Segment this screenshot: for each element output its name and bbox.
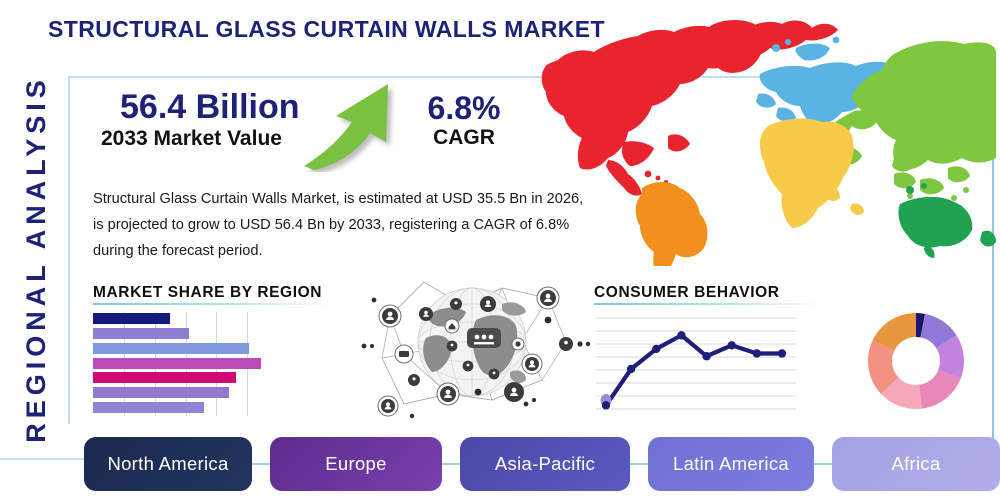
line-data-point xyxy=(627,365,635,373)
market-share-bar-chart xyxy=(93,312,278,416)
section-rule-market-share xyxy=(93,303,333,305)
up-trend-arrow-icon xyxy=(300,80,410,172)
line-data-point xyxy=(728,341,736,349)
bar-chart-bar xyxy=(93,313,170,324)
line-data-point xyxy=(677,331,685,339)
bar-chart-bar xyxy=(93,387,229,398)
bar-chart-bar xyxy=(93,328,189,339)
vertical-section-label: REGIONAL ANALYSIS xyxy=(13,49,59,469)
consumer-behavior-line-chart xyxy=(596,310,796,417)
region-chip-asia-pacific[interactable]: Asia-Pacific xyxy=(460,437,630,491)
chip-connector xyxy=(814,463,832,465)
bar-chart-bar xyxy=(93,372,236,383)
section-title-market-share: MARKET SHARE BY REGION xyxy=(93,284,322,302)
section-title-consumer-behavior: CONSUMER BEHAVIOR xyxy=(594,284,780,302)
region-chip-north-america[interactable]: North America xyxy=(84,437,252,491)
kpi-value-caption: 2033 Market Value xyxy=(101,127,282,151)
section-rule-consumer-behavior xyxy=(594,303,824,305)
line-data-point xyxy=(753,349,761,357)
bar-chart-bar xyxy=(93,343,249,354)
bar-chart-bar xyxy=(93,402,204,413)
line-data-point xyxy=(778,349,786,357)
chip-connector xyxy=(442,463,460,465)
region-chip-bar: North AmericaEuropeAsia-PacificLatin Ame… xyxy=(84,437,995,491)
line-data-point xyxy=(702,352,710,360)
infographic-root: REGIONAL ANALYSIS STRUCTURAL GLASS CURTA… xyxy=(0,0,1000,500)
kpi-value: 56.4 Billion xyxy=(120,88,300,127)
region-chip-europe[interactable]: Europe xyxy=(270,437,442,491)
line-data-point xyxy=(602,401,610,409)
world-map-icon xyxy=(496,8,996,266)
panel-bottom-border-left xyxy=(0,458,92,460)
chip-connector xyxy=(630,463,648,465)
global-network-globe-icon xyxy=(352,276,592,424)
region-chip-africa[interactable]: Africa xyxy=(832,437,1000,491)
chip-connector xyxy=(252,463,270,465)
segment-donut-chart xyxy=(866,311,966,411)
bar-chart-bar xyxy=(93,358,261,369)
region-chip-latin-america[interactable]: Latin America xyxy=(648,437,814,491)
line-data-point xyxy=(652,345,660,353)
